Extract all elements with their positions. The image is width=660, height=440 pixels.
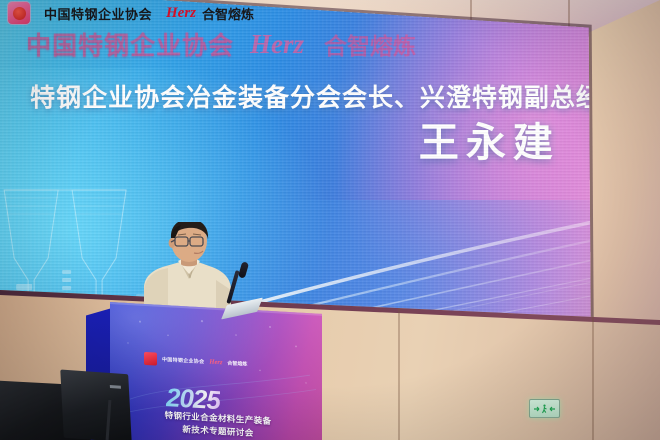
screen-sponsor-name-cn: 合智熔炼 bbox=[324, 27, 416, 61]
screen-title-block: 特钢企业协会冶金装备分会会长、兴澄特钢副总经理 王永建 bbox=[30, 82, 560, 166]
overlay-sponsor-name-cn: 合智熔炼 bbox=[202, 4, 254, 23]
podium-association-badge-icon bbox=[144, 352, 157, 366]
overlay-sponsor-wordmark: Herz bbox=[166, 5, 196, 22]
screen-association-name: 中国特钢企业协会 bbox=[26, 26, 234, 62]
podium-lectern: 中国特钢企业协会 Herz 合智熔炼 2025 特钢行业合金材料生产装备 新技术… bbox=[110, 302, 322, 440]
podium-sponsor-name-cn: 合智熔炼 bbox=[227, 360, 247, 368]
stage-panel-seam bbox=[592, 317, 594, 440]
podium-association-name: 中国特钢企业协会 bbox=[162, 356, 204, 365]
screen-masthead: 中国特钢企业协会 Herz 合智熔炼 bbox=[26, 26, 416, 62]
podium-sponsor-wordmark: Herz bbox=[209, 359, 222, 367]
overlay-header-bar: 中国特钢企业协会 Herz 合智熔炼 bbox=[0, 0, 660, 26]
exit-running-man-icon bbox=[532, 403, 557, 415]
overlay-association-name: 中国特钢企业协会 bbox=[44, 4, 152, 23]
emergency-exit-sign bbox=[529, 399, 560, 418]
loudspeaker-brand-badge bbox=[110, 385, 121, 389]
conference-photo: 中国特钢企业协会 Herz 合智熔炼 特钢企业协会冶金装备分会会长、兴澄特钢副总… bbox=[0, 0, 660, 440]
stage-panel-seam bbox=[398, 308, 400, 440]
stage-loudspeaker-right bbox=[60, 369, 131, 440]
speaker-title-line: 特钢企业协会冶金装备分会会长、兴澄特钢副总经理 bbox=[30, 82, 560, 114]
screen-sponsor-wordmark: Herz bbox=[250, 28, 304, 59]
speaker-name: 王永建 bbox=[30, 120, 560, 166]
association-logo-icon bbox=[8, 2, 30, 24]
